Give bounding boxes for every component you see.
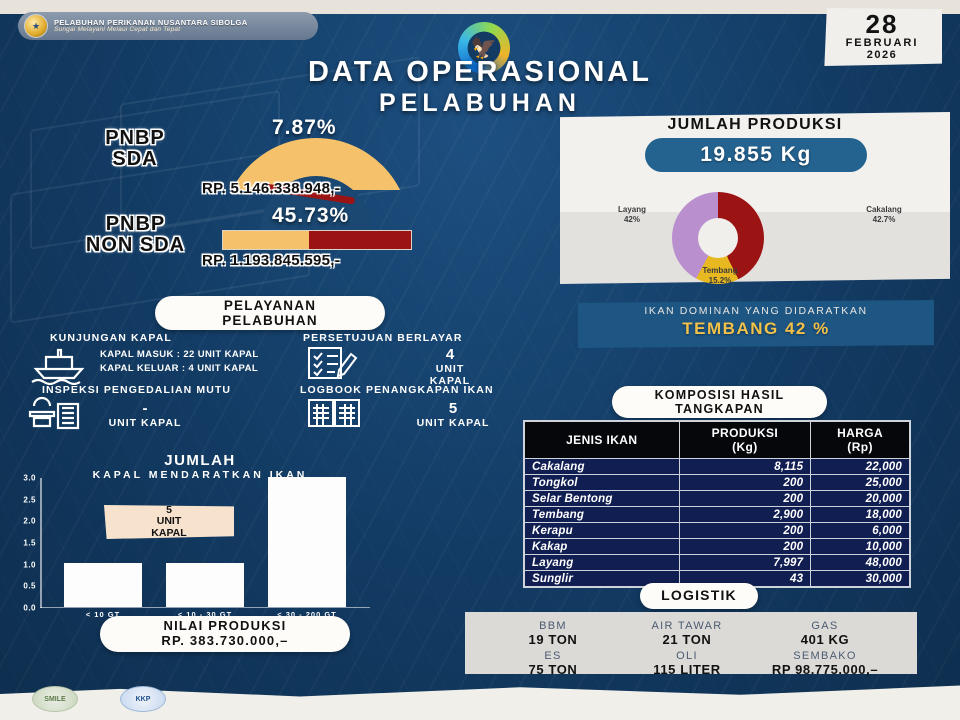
produksi-total-badge: 19.855 Kg [645, 138, 867, 172]
logistik-heading-pill: LOGISTIK [640, 583, 758, 609]
logistik-item-value: 21 TON [612, 632, 762, 647]
pnbp-nonsda-amount: RP. 1.193.845.595,- [202, 252, 340, 269]
cell-jenis-ikan: Cakalang [524, 459, 679, 475]
inspection-icon [24, 396, 86, 435]
chart-y-axis [40, 478, 42, 608]
nilai-produksi-label: NILAI PRODUKSI [161, 619, 288, 634]
ikan-dominan-value: TEMBANG 42 % [578, 319, 934, 339]
chart-x-axis [40, 607, 370, 609]
page-title: DATA OPERASIONAL PELABUHAN [0, 56, 960, 118]
kapal-keluar-line: KAPAL KELUAR : 4 UNIT KAPAL [100, 362, 259, 376]
logistik-item-label: ES [478, 650, 628, 662]
cell-produksi: 200 [679, 523, 811, 539]
bar-segment-track [223, 231, 309, 249]
kapal-chart-note: 5 UNIT KAPAL [104, 505, 234, 539]
org-ribbon: ★ PELABUHAN PERIKANAN NUSANTARA SIBOLGA … [18, 12, 318, 40]
chart-y-tick: 0.0 [23, 604, 36, 613]
date-month: FEBRUARI [822, 37, 942, 49]
kkp-logo-icon: KKP [120, 686, 166, 712]
table-row: Kakap20010,000 [524, 539, 910, 555]
cell-harga: 30,000 [811, 571, 910, 588]
donut-label-layang: Layang 42% [600, 205, 664, 226]
inspeksi-value: - UNIT KAPAL [100, 400, 190, 429]
cell-produksi: 7,997 [679, 555, 811, 571]
pnbp-sda-percent: 7.87% [272, 116, 337, 140]
chart-bar [268, 477, 346, 607]
cell-harga: 10,000 [811, 539, 910, 555]
komposisi-heading-line2: TANGKAPAN [655, 402, 785, 416]
logbook-count: 5 [408, 400, 498, 417]
table-row: Selar Bentong20020,000 [524, 491, 910, 507]
pnbp-nonsda-label-line1: PNBP [48, 214, 223, 235]
svc-title-kunjungan: KUNJUNGAN KAPAL [50, 332, 172, 344]
pnbp-sda-amount: RP. 5.146.338.948,- [202, 180, 340, 197]
chart-y-tick: 2.0 [23, 517, 36, 526]
cell-produksi: 200 [679, 539, 811, 555]
pelayanan-heading-line1: PELAYANAN [222, 298, 318, 313]
komposisi-table: JENIS IKAN PRODUKSI (Kg) HARGA (Rp) Caka… [523, 420, 911, 588]
document-pencil-icon [303, 344, 359, 387]
pelayanan-heading-line2: PELABUHAN [222, 313, 318, 328]
cell-produksi: 2,900 [679, 507, 811, 523]
table-row: Kerapu2006,000 [524, 523, 910, 539]
kapal-bar-chart: 0.00.51.01.52.02.53.0< 10 GT< 10 - 30 GT… [40, 478, 370, 608]
cell-harga: 48,000 [811, 555, 910, 571]
inspeksi-count: - [100, 400, 190, 417]
komposisi-heading-pill: KOMPOSISI HASIL TANGKAPAN [612, 386, 827, 418]
pnbp-sda-label-line2: SDA [60, 149, 210, 170]
logistik-item: BBM19 TON [478, 620, 628, 647]
date-day: 28 [822, 11, 942, 37]
bar-segment-fill [309, 231, 411, 249]
logistik-item: GAS401 KG [750, 620, 900, 647]
svc-title-persetujuan: PERSETUJUAN BERLAYAR [303, 332, 463, 344]
donut-label-tembang: Tembang 15.2% [688, 266, 752, 287]
pnbp-sda-label: PNBP SDA [60, 128, 210, 170]
pnbp-nonsda-label-line2: NON SDA [48, 235, 223, 256]
org-tagline: Sungai Melayani Melaui Cepat dan Tepat [54, 27, 248, 34]
chart-y-tick: 1.0 [23, 560, 36, 569]
svc-title-logbook: LOGBOOK PENANGKAPAN IKAN [300, 384, 494, 396]
title-line-1: DATA OPERASIONAL [0, 56, 960, 89]
logistik-heading: LOGISTIK [661, 588, 737, 604]
th-produksi: PRODUKSI (Kg) [679, 421, 811, 459]
logbook-value: 5 UNIT KAPAL [408, 400, 498, 429]
logistik-item-value: 19 TON [478, 632, 628, 647]
cell-jenis-ikan: Layang [524, 555, 679, 571]
pnbp-nonsda-bar [222, 230, 412, 250]
th-harga: HARGA (Rp) [811, 421, 910, 459]
cell-jenis-ikan: Tongkol [524, 475, 679, 491]
port-seal-icon: ★ [24, 14, 48, 38]
logbook-icon [305, 396, 365, 435]
chart-y-tick: 3.0 [23, 474, 36, 483]
logistik-item: SEMBAKORP 98.775.000,– [750, 650, 900, 677]
cell-harga: 20,000 [811, 491, 910, 507]
logistik-item-value: RP 98.775.000,– [750, 662, 900, 677]
cell-produksi: 200 [679, 491, 811, 507]
komposisi-heading-line1: KOMPOSISI HASIL [655, 388, 785, 402]
cell-jenis-ikan: Kerapu [524, 523, 679, 539]
cell-jenis-ikan: Kakap [524, 539, 679, 555]
persetujuan-count: 4 [415, 346, 485, 363]
donut-label-cakalang: Cakalang 42.7% [848, 205, 920, 226]
logistik-item-label: GAS [750, 620, 900, 632]
logistik-item: AIR TAWAR21 TON [612, 620, 762, 647]
logistik-item-label: OLI [612, 650, 762, 662]
logistik-item: OLI115 LITER [612, 650, 762, 677]
pnbp-nonsda-percent: 45.73% [272, 204, 349, 228]
inspeksi-unit: UNIT KAPAL [100, 417, 190, 429]
chart-bar [166, 563, 244, 606]
cell-produksi: 8,115 [679, 459, 811, 475]
cell-harga: 25,000 [811, 475, 910, 491]
logistik-item-label: AIR TAWAR [612, 620, 762, 632]
nilai-produksi-pill: NILAI PRODUKSI RP. 383.730.000,– [100, 616, 350, 652]
infographic-page: ★ PELABUHAN PERIKANAN NUSANTARA SIBOLGA … [0, 0, 960, 720]
table-row: Cakalang8,11522,000 [524, 459, 910, 475]
produksi-heading: JUMLAH PRODUKSI [560, 116, 950, 134]
cell-harga: 18,000 [811, 507, 910, 523]
cell-jenis-ikan: Tembang [524, 507, 679, 523]
chart-bar [64, 563, 142, 606]
kunjungan-detail-lines: KAPAL MASUK : 22 UNIT KAPAL KAPAL KELUAR… [100, 348, 259, 377]
logistik-item-label: BBM [478, 620, 628, 632]
table-row: Tongkol20025,000 [524, 475, 910, 491]
pnbp-nonsda-label: PNBP NON SDA [48, 214, 223, 256]
logistik-item: ES75 TON [478, 650, 628, 677]
chart-y-tick: 2.5 [23, 495, 36, 504]
logistik-item-value: 115 LITER [612, 662, 762, 677]
table-row: Tembang2,90018,000 [524, 507, 910, 523]
table-header-row: JENIS IKAN PRODUKSI (Kg) HARGA (Rp) [524, 421, 910, 459]
cell-jenis-ikan: Selar Bentong [524, 491, 679, 507]
logistik-item-label: SEMBAKO [750, 650, 900, 662]
persetujuan-value: 4 UNIT KAPAL [415, 346, 485, 387]
ikan-dominan-banner: IKAN DOMINAN YANG DIDARATKAN TEMBANG 42 … [578, 300, 934, 348]
chart-y-tick: 0.5 [23, 582, 36, 591]
kapal-masuk-line: KAPAL MASUK : 22 UNIT KAPAL [100, 348, 259, 362]
table-body: Cakalang8,11522,000Tongkol20025,000Selar… [524, 459, 910, 588]
logistik-item-value: 401 KG [750, 632, 900, 647]
logbook-unit: UNIT KAPAL [408, 417, 498, 429]
svc-title-inspeksi: INSPEKSI PENGEDALIAN MUTU [42, 384, 231, 396]
pnbp-sda-label-line1: PNBP [60, 128, 210, 149]
table-row: Layang7,99748,000 [524, 555, 910, 571]
cell-harga: 6,000 [811, 523, 910, 539]
cell-harga: 22,000 [811, 459, 910, 475]
wbk-smile-logo-icon: SMILE [32, 686, 78, 712]
chart-y-tick: 1.5 [23, 539, 36, 548]
cell-produksi: 200 [679, 475, 811, 491]
pelayanan-heading-pill: PELAYANAN PELABUHAN [155, 296, 385, 330]
ikan-dominan-caption: IKAN DOMINAN YANG DIDARATKAN [578, 305, 934, 317]
kapal-chart-title: JUMLAH [0, 452, 400, 469]
title-line-2: PELABUHAN [0, 89, 960, 118]
logistik-item-value: 75 TON [478, 662, 628, 677]
nilai-produksi-value: RP. 383.730.000,– [161, 634, 288, 649]
th-jenis-ikan: JENIS IKAN [524, 421, 679, 459]
